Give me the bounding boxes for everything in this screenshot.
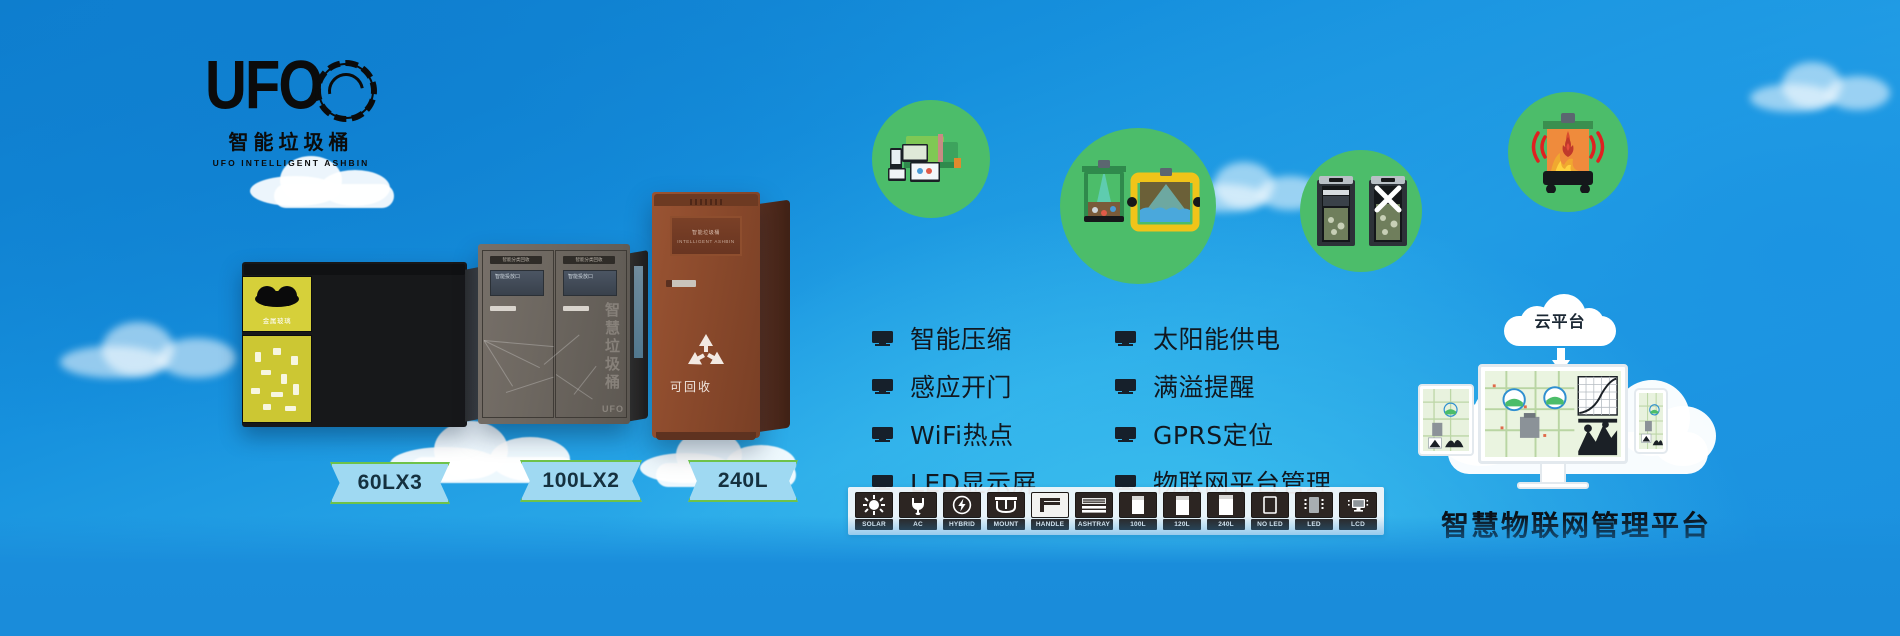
no-led-icon [1251,492,1289,518]
cloud-platform-badge: 云平台 [1504,294,1616,346]
bin-compartment-metal-glass: 金属玻璃 [242,276,312,424]
litter-graphic [243,336,311,422]
compaction-mechanism-icon [1300,150,1422,272]
screen-line-1: 智能垃圾桶 [692,229,720,236]
feature-label: 智能压缩 [910,320,1012,356]
screen-line-2: INTELLIGENT ASHBIN [677,239,734,244]
capacity-label-60lx3: 60LX3 [330,462,450,504]
tablet-dashboard-screen [1423,389,1469,451]
deposit-hatch-right: 智能投放口 [563,270,617,296]
sun-icon [855,492,893,518]
garbage-truck-monitoring-icon [872,100,990,218]
feature-label: 满溢提醒 [1153,368,1255,404]
feature-item: 感应开门 [872,368,1037,404]
monitor-bullet-icon [872,427,893,442]
cloud-platform-label: 云平台 [1504,308,1616,332]
three-compartment-bin: 纸类垃圾 [242,262,467,427]
feature-column-left: 智能压缩 感应开门 WiFi热点 LED显示屏 [872,320,1037,500]
fire-alarm-icon [1508,92,1628,212]
status-bar-left: 智能分类回收 [490,256,542,264]
capacity-label-100lx2: 100LX2 [520,460,642,502]
recycle-icon [684,332,728,372]
handle-right [563,306,589,311]
bin-vertical-label: 智慧垃圾桶 [601,302,622,392]
bin-120l-icon [1163,492,1201,518]
feature-item: 太阳能供电 [1115,320,1332,356]
cloud-decoration [1750,60,1900,116]
handle-icon [1031,492,1069,518]
monitor-bullet-icon [1115,427,1136,442]
feature-item: WiFi热点 [872,416,1037,452]
desktop-monitor [1478,364,1628,494]
monitor-dashboard-screen [1478,364,1628,464]
sky-bottom-gradient [0,516,1900,636]
status-bar-right: 智能分类回收 [563,256,615,264]
hatch-label: 智能投放口 [568,273,593,280]
feature-label: 太阳能供电 [1153,320,1281,356]
single-240l-bin: 智能垃圾桶 INTELLIGENT ASHBIN 可回收 [652,192,800,444]
compartment-label: 金属玻璃 [243,315,311,325]
monitor-bullet-icon [872,331,893,346]
phone-dashboard-screen [1639,393,1663,449]
power-plug-icon [899,492,937,518]
feature-item: 智能压缩 [872,320,1037,356]
monitor-bullet-icon [872,379,893,394]
smartphone-device [1634,388,1668,454]
promo-banner: UFO 智能垃圾桶 UFO INTELLIGENT ASHBIN 纸类垃圾 [0,0,1900,636]
cloud-slot-icon [255,291,299,307]
bin-brand-mark: UFO [602,404,624,414]
feature-column-right: 太阳能供电 满溢提醒 GPRS定位 物联网平台管理 [1115,320,1332,500]
fill-level-sensor-icon [1060,128,1216,284]
lcd-screen-icon [1339,492,1377,518]
feature-list: 智能压缩 感应开门 WiFi热点 LED显示屏 太阳能供电 满溢提醒 [872,320,1332,500]
feature-item: 满溢提醒 [1115,368,1332,404]
feature-label: GPRS定位 [1153,416,1274,452]
feature-label: WiFi热点 [910,416,1014,452]
hatch-label: 智能投放口 [495,273,520,280]
wall-mount-icon [987,492,1025,518]
dual-smart-bin: 智能分类回收 智能分类回收 智能投放口 智能投放口 智慧垃圾桶 UFO [478,244,648,434]
led-screen-icon [1295,492,1333,518]
bin-240l-icon [1207,492,1245,518]
capacity-label-240l: 240L [688,460,798,502]
bin-display-screen: 智能垃圾桶 INTELLIGENT ASHBIN [670,216,742,256]
vent-slots [690,199,724,205]
recycle-label: 可回收 [652,378,730,395]
monitor-bullet-icon [1115,379,1136,394]
bin-handle [666,280,696,287]
feature-item: GPRS定位 [1115,416,1332,452]
tablet-device [1418,384,1474,456]
iot-platform-illustration: 云平台 [1400,292,1752,542]
monitor-bullet-icon [1115,331,1136,346]
deposit-hatch-left: 智能投放口 [490,270,544,296]
ashtray-icon [1075,492,1113,518]
hybrid-power-icon [943,492,981,518]
feature-label: 感应开门 [910,368,1012,404]
handle-left [490,306,516,311]
bin-100l-icon [1119,492,1157,518]
